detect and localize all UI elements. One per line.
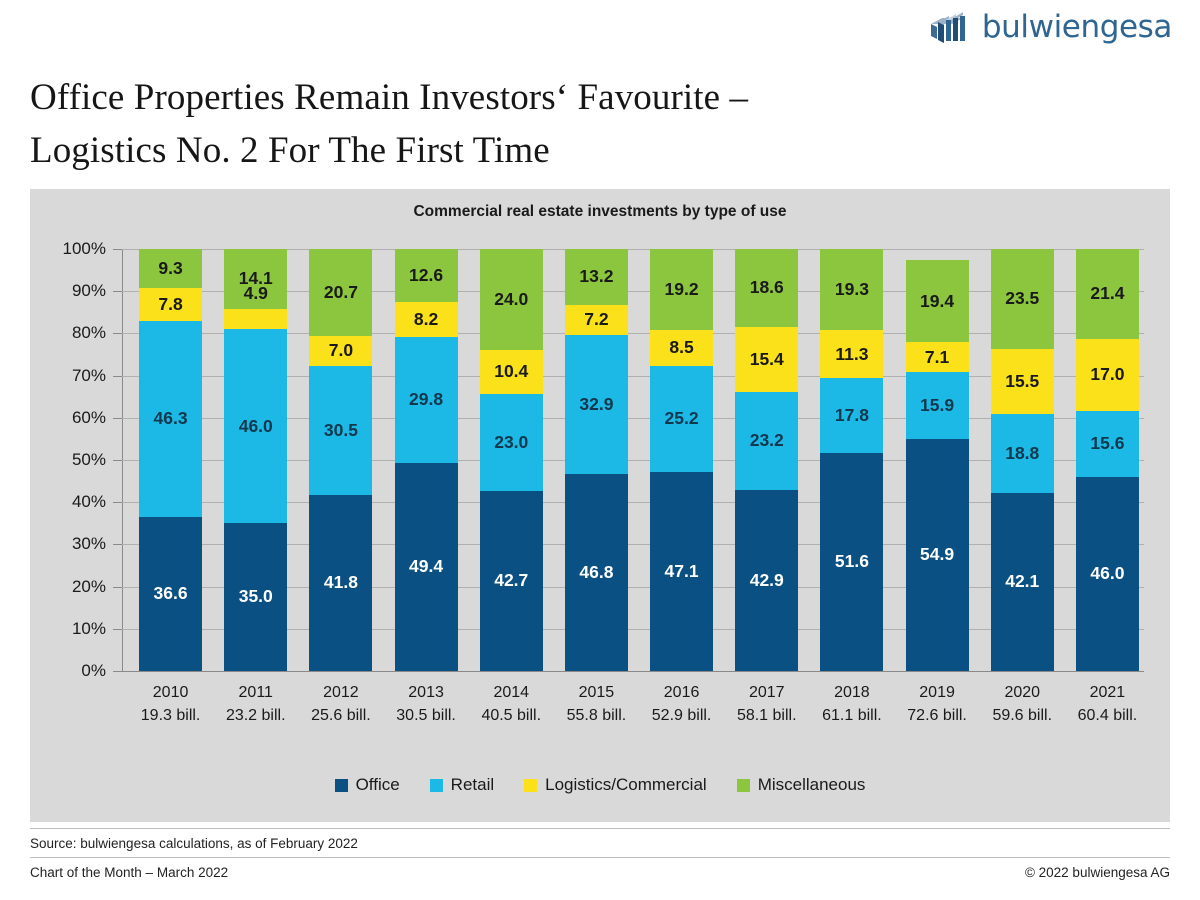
x-axis-year: 2020 [980, 681, 1065, 704]
bar-segment-office[interactable]: 42.7 [480, 491, 543, 671]
x-axis-amount: 30.5 bill. [384, 704, 469, 727]
x-axis-year: 2019 [895, 681, 980, 704]
stacked-bar[interactable]: 47.125.28.519.2 [650, 249, 713, 671]
bar-segment-misc[interactable]: 12.6 [395, 249, 458, 302]
stacked-bar[interactable]: 41.830.57.020.7 [309, 249, 372, 671]
bar-segment-retail[interactable]: 30.5 [309, 366, 372, 495]
chart-title: Commercial real estate investments by ty… [30, 203, 1170, 221]
x-axis-amount: 23.2 bill. [213, 704, 298, 727]
x-axis-label: 201440.5 bill. [469, 681, 554, 727]
bar-segment-value: 23.0 [494, 434, 528, 452]
bar-segment-office[interactable]: 42.1 [991, 493, 1054, 671]
brand-wordmark: bulwiengesa [982, 12, 1172, 43]
bar-segment-logistics[interactable]: 7.2 [565, 305, 628, 335]
bar-segment-office[interactable]: 35.0 [224, 523, 287, 671]
chart-legend: OfficeRetailLogistics/CommercialMiscella… [30, 775, 1170, 795]
stacked-bar[interactable]: 42.923.215.418.6 [735, 249, 798, 671]
y-axis-tick-label: 80% [72, 323, 106, 343]
footer-meta-row: Chart of the Month – March 2022 © 2022 b… [30, 858, 1170, 886]
bar-segment-value: 23.5 [1005, 290, 1039, 308]
y-axis-tick [113, 629, 122, 630]
x-axis-amount: 61.1 bill. [809, 704, 894, 727]
bars-layer: 36.646.37.89.335.046.04.914.141.830.57.0… [122, 249, 1144, 671]
y-axis-tick [113, 544, 122, 545]
stacked-bar[interactable]: 36.646.37.89.3 [139, 249, 202, 671]
legend-swatch-icon [335, 779, 348, 792]
bar-segment-value: 42.9 [750, 572, 784, 590]
bar-segment-value: 15.6 [1090, 435, 1124, 453]
bar-segment-logistics[interactable]: 7.8 [139, 288, 202, 321]
bar-segment-value: 10.4 [494, 363, 528, 381]
bar-segment-value: 42.1 [1005, 573, 1039, 591]
y-axis-tick-label: 100% [63, 239, 106, 259]
bar-segment-value: 19.3 [835, 281, 869, 299]
y-axis-tick-label: 60% [72, 408, 106, 428]
bar-segment-misc[interactable]: 19.3 [820, 249, 883, 330]
bar-segment-value: 42.7 [494, 572, 528, 590]
bar-segment-value: 15.9 [920, 397, 954, 415]
x-axis-year: 2021 [1065, 681, 1150, 704]
x-axis-label: 201123.2 bill. [213, 681, 298, 727]
bar-segment-value: 24.0 [494, 291, 528, 309]
legend-label: Retail [451, 775, 494, 795]
bar-segment-office[interactable]: 46.0 [1076, 477, 1139, 671]
bar-segment-value: 46.0 [239, 418, 273, 436]
x-axis-amount: 40.5 bill. [469, 704, 554, 727]
bar-segment-value: 21.4 [1090, 285, 1124, 303]
stacked-bar[interactable]: 49.429.88.212.6 [395, 249, 458, 671]
bar-segment-value: 54.9 [920, 546, 954, 564]
bar-segment-misc[interactable]: 19.4 [906, 260, 969, 342]
y-axis-tick [113, 376, 122, 377]
bar-segment-retail[interactable]: 29.8 [395, 337, 458, 463]
legend-item[interactable]: Miscellaneous [737, 775, 866, 795]
bar-segment-retail[interactable]: 15.6 [1076, 411, 1139, 477]
x-axis-label: 201019.3 bill. [128, 681, 213, 727]
bar-segment-value: 46.8 [579, 564, 613, 582]
bar-segment-retail[interactable]: 46.0 [224, 329, 287, 523]
bar-segment-office[interactable]: 54.9 [906, 439, 969, 671]
x-axis-label: 201652.9 bill. [639, 681, 724, 727]
y-axis-tick [113, 671, 122, 672]
y-axis-tick-label: 0% [81, 661, 106, 681]
legend-swatch-icon [524, 779, 537, 792]
bar-segment-value: 13.2 [579, 268, 613, 286]
chart-of-the-month-label: Chart of the Month – March 2022 [30, 865, 228, 880]
x-axis-label: 202059.6 bill. [980, 681, 1065, 727]
legend-item[interactable]: Office [335, 775, 400, 795]
x-axis-label: 201861.1 bill. [809, 681, 894, 727]
bar-segment-value: 9.3 [158, 260, 182, 278]
bar-segment-retail[interactable]: 15.9 [906, 372, 969, 439]
bar-segment-retail[interactable]: 17.8 [820, 378, 883, 453]
legend-label: Office [356, 775, 400, 795]
bar-segment-value: 19.4 [920, 293, 954, 311]
x-axis-year: 2015 [554, 681, 639, 704]
bulwiengesa-bars-logo-icon [929, 10, 973, 44]
y-axis-tick [113, 587, 122, 588]
bar-segment-value: 46.3 [154, 410, 188, 428]
gridline [122, 671, 1144, 672]
bar-segment-misc[interactable]: 20.7 [309, 249, 372, 336]
x-axis-year: 2012 [298, 681, 383, 704]
bar-segment-value: 47.1 [665, 563, 699, 581]
legend-swatch-icon [430, 779, 443, 792]
bar-segment-value: 20.7 [324, 284, 358, 302]
y-axis-tick [113, 249, 122, 250]
bar-segment-logistics[interactable]: 7.0 [309, 336, 372, 366]
bar-segment-logistics[interactable]: 17.0 [1076, 339, 1139, 411]
y-axis-tick-label: 40% [72, 492, 106, 512]
x-axis-amount: 72.6 bill. [895, 704, 980, 727]
bar-segment-value: 25.2 [665, 410, 699, 428]
bar-segment-value: 30.5 [324, 422, 358, 440]
bar-segment-office[interactable]: 42.9 [735, 490, 798, 671]
y-axis-tick [113, 418, 122, 419]
bar-segment-misc[interactable]: 19.2 [650, 249, 713, 330]
bar-segment-value: 32.9 [579, 396, 613, 414]
x-axis-label: 201225.6 bill. [298, 681, 383, 727]
x-axis-label: 201972.6 bill. [895, 681, 980, 727]
bar-segment-value: 15.4 [750, 351, 784, 369]
bar-segment-retail[interactable]: 25.2 [650, 366, 713, 472]
x-axis-amount: 52.9 bill. [639, 704, 724, 727]
page-title-line-2: Logistics No. 2 For The First Time [30, 125, 980, 178]
legend-swatch-icon [737, 779, 750, 792]
bar-segment-logistics[interactable]: 10.4 [480, 350, 543, 394]
x-axis-amount: 19.3 bill. [128, 704, 213, 727]
bar-segment-misc[interactable]: 23.5 [991, 249, 1054, 348]
bar-segment-value: 15.5 [1005, 373, 1039, 391]
y-axis-tick-label: 10% [72, 619, 106, 639]
x-axis-amount: 59.6 bill. [980, 704, 1065, 727]
bar-segment-misc[interactable]: 9.3 [139, 249, 202, 288]
y-axis-tick [113, 502, 122, 503]
bar-segment-logistics[interactable]: 8.2 [395, 302, 458, 337]
bar-segment-value: 41.8 [324, 574, 358, 592]
bar-segment-retail[interactable]: 23.0 [480, 394, 543, 491]
x-axis-year: 2014 [469, 681, 554, 704]
y-axis-tick [113, 291, 122, 292]
x-axis-label: 201330.5 bill. [384, 681, 469, 727]
bar-segment-value: 23.2 [750, 432, 784, 450]
x-axis-label: 201758.1 bill. [724, 681, 809, 727]
bar-segment-value: 46.0 [1090, 565, 1124, 583]
bar-segment-office[interactable]: 51.6 [820, 453, 883, 671]
x-axis-amount: 25.6 bill. [298, 704, 383, 727]
bar-segment-value: 12.6 [409, 267, 443, 285]
bar-segment-value: 49.4 [409, 558, 443, 576]
y-axis-tick [113, 460, 122, 461]
bar-segment-office[interactable]: 49.4 [395, 463, 458, 671]
y-axis-tick-label: 70% [72, 366, 106, 386]
x-axis-year: 2010 [128, 681, 213, 704]
bar-segment-misc[interactable]: 18.6 [735, 249, 798, 327]
x-axis-year: 2016 [639, 681, 724, 704]
source-text: Source: bulwiengesa calculations, as of … [30, 836, 358, 851]
x-axis-year: 2013 [384, 681, 469, 704]
bar-segment-logistics[interactable]: 4.9 [224, 309, 287, 330]
bar-segment-logistics[interactable]: 7.1 [906, 342, 969, 372]
bar-segment-logistics[interactable]: 15.4 [735, 327, 798, 392]
y-axis-tick-label: 20% [72, 577, 106, 597]
x-axis-year: 2017 [724, 681, 809, 704]
bar-segment-logistics[interactable]: 15.5 [991, 349, 1054, 414]
stacked-bar[interactable]: 51.617.811.319.3 [820, 249, 883, 671]
bar-segment-office[interactable]: 41.8 [309, 495, 372, 671]
stacked-bar[interactable]: 46.015.617.021.4 [1076, 249, 1139, 671]
bar-segment-value: 36.6 [154, 585, 188, 603]
bar-segment-value: 7.2 [584, 311, 608, 329]
bar-segment-value: 7.0 [329, 342, 353, 360]
x-axis-label: 202160.4 bill. [1065, 681, 1150, 727]
bar-segment-retail[interactable]: 23.2 [735, 392, 798, 490]
y-axis-tick-label: 50% [72, 450, 106, 470]
x-axis-amount: 60.4 bill. [1065, 704, 1150, 727]
footer: Source: bulwiengesa calculations, as of … [30, 828, 1170, 886]
bar-segment-value: 7.8 [158, 296, 182, 314]
bar-segment-misc[interactable]: 13.2 [565, 249, 628, 305]
bar-segment-value: 14.1 [239, 270, 273, 288]
bar-segment-value: 18.6 [750, 279, 784, 297]
stacked-bar[interactable]: 42.723.010.424.0 [480, 249, 543, 671]
brand-logo: bulwiengesa [929, 10, 1172, 44]
bar-segment-value: 8.2 [414, 311, 438, 329]
bar-segment-value: 51.6 [835, 553, 869, 571]
legend-label: Logistics/Commercial [545, 775, 707, 795]
footer-source-row: Source: bulwiengesa calculations, as of … [30, 829, 1170, 857]
plot-area: 0%10%20%30%40%50%60%70%80%90%100% 36.646… [122, 249, 1144, 671]
bar-segment-value: 35.0 [239, 588, 273, 606]
bar-segment-office[interactable]: 36.6 [139, 517, 202, 671]
bar-segment-logistics[interactable]: 8.5 [650, 330, 713, 366]
bar-segment-logistics[interactable]: 11.3 [820, 330, 883, 378]
bar-segment-office[interactable]: 47.1 [650, 472, 713, 671]
stacked-bar[interactable]: 35.046.04.914.1 [224, 249, 287, 671]
legend-label: Miscellaneous [758, 775, 866, 795]
stacked-bar[interactable]: 42.118.815.523.5 [991, 249, 1054, 671]
x-axis-year: 2011 [213, 681, 298, 704]
chart-panel: Commercial real estate investments by ty… [30, 189, 1170, 822]
page-title: Office Properties Remain Investors‘ Favo… [30, 72, 980, 177]
bar-segment-misc[interactable]: 24.0 [480, 249, 543, 350]
legend-item[interactable]: Retail [430, 775, 494, 795]
x-axis-year: 2018 [809, 681, 894, 704]
x-axis-amount: 55.8 bill. [554, 704, 639, 727]
stacked-bar[interactable]: 54.915.97.119.4 [906, 249, 969, 671]
bar-segment-value: 29.8 [409, 391, 443, 409]
stacked-bar[interactable]: 46.832.97.213.2 [565, 249, 628, 671]
page-title-line-1: Office Properties Remain Investors‘ Favo… [30, 77, 748, 118]
legend-item[interactable]: Logistics/Commercial [524, 775, 707, 795]
bar-segment-retail[interactable]: 46.3 [139, 321, 202, 516]
y-axis-tick-label: 30% [72, 534, 106, 554]
x-axis-label: 201555.8 bill. [554, 681, 639, 727]
bar-segment-value: 17.8 [835, 407, 869, 425]
y-axis-tick-label: 90% [72, 281, 106, 301]
bar-segment-value: 8.5 [669, 339, 693, 357]
bar-segment-value: 18.8 [1005, 445, 1039, 463]
bar-segment-misc[interactable]: 21.4 [1076, 249, 1139, 339]
bar-segment-value: 19.2 [665, 281, 699, 299]
bar-segment-value: 17.0 [1090, 366, 1124, 384]
x-axis-amount: 58.1 bill. [724, 704, 809, 727]
copyright-label: © 2022 bulwiengesa AG [1025, 865, 1170, 880]
bar-segment-retail[interactable]: 32.9 [565, 335, 628, 474]
bar-segment-value: 11.3 [835, 346, 868, 364]
bar-segment-retail[interactable]: 18.8 [991, 414, 1054, 493]
bar-segment-office[interactable]: 46.8 [565, 474, 628, 671]
x-axis-labels: 201019.3 bill.201123.2 bill.201225.6 bil… [122, 681, 1144, 741]
y-axis-tick [113, 333, 122, 334]
bar-segment-value: 7.1 [925, 349, 949, 367]
